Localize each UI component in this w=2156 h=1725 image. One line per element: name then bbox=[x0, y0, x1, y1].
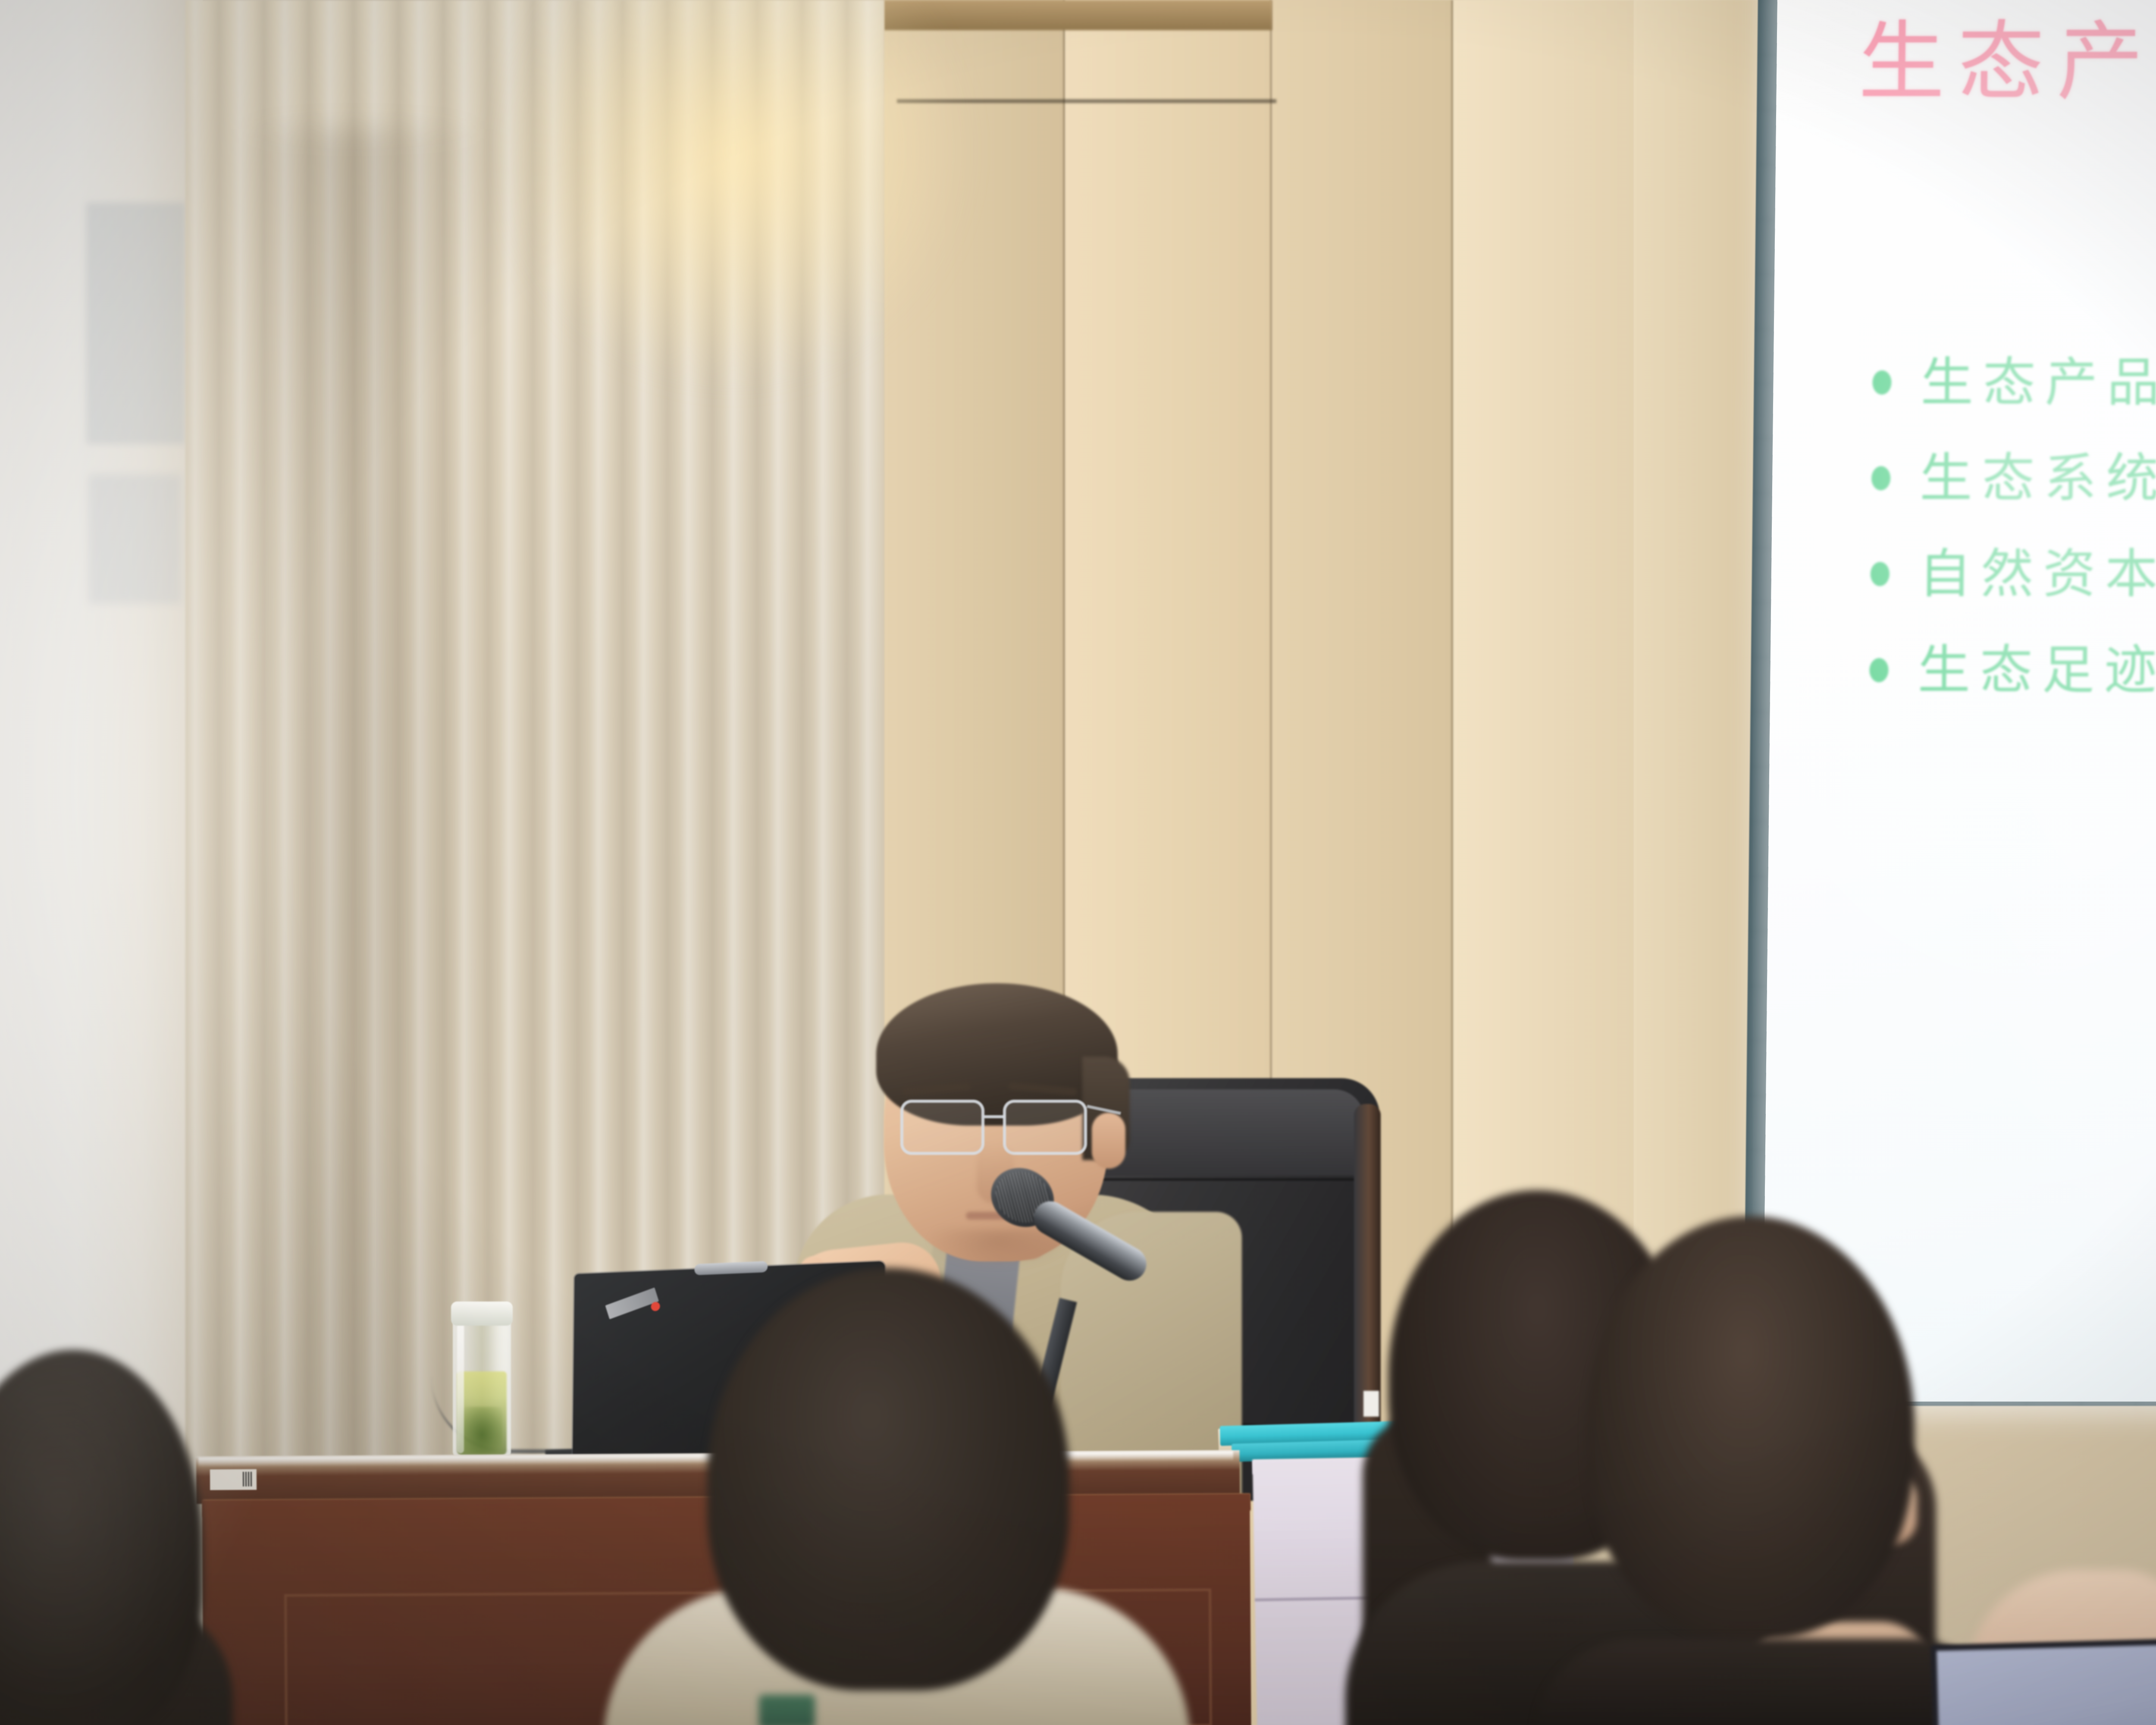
attendee-center-head bbox=[707, 1268, 1069, 1690]
bullet-label: 生态系统 bbox=[1919, 449, 2156, 507]
tea-leaves bbox=[461, 1407, 503, 1453]
list-item: 生态产品 bbox=[1872, 354, 2156, 411]
list-item: 自然资本 bbox=[1870, 545, 2156, 603]
glasses-lens-right bbox=[1003, 1100, 1087, 1155]
projection-screen-content: 生态产 生态产品 生态系统 自然资本 生态足迹 bbox=[1763, 0, 2156, 1402]
slide-bullet-list: 生态产品 生态系统 自然资本 生态足迹 bbox=[1869, 354, 2156, 737]
tumbler-cap[interactable] bbox=[451, 1302, 513, 1326]
bullet-label: 自然资本 bbox=[1918, 545, 2156, 603]
list-item: 生态足迹 bbox=[1869, 641, 2156, 699]
foreground-laptop-screen bbox=[1930, 1633, 2156, 1725]
bullet-label: 生态足迹 bbox=[1918, 641, 2156, 699]
glasses-lens-left bbox=[900, 1100, 984, 1155]
bullet-dot-icon bbox=[1871, 562, 1890, 586]
glasses-bridge bbox=[984, 1115, 1004, 1118]
list-item: 生态系统 bbox=[1871, 449, 2156, 507]
bullet-label: 生态产品 bbox=[1921, 354, 2156, 411]
bullet-dot-icon bbox=[1871, 466, 1891, 490]
glasses-temple bbox=[1087, 1105, 1121, 1115]
slide-title: 生态产 bbox=[1858, 17, 2156, 108]
attendee-center-badge bbox=[759, 1695, 815, 1725]
foreground-laptop[interactable] bbox=[1930, 1633, 2156, 1725]
bullet-dot-icon bbox=[1869, 658, 1889, 682]
curtain-shadow bbox=[241, 129, 483, 1509]
window-pane-upper bbox=[86, 203, 185, 444]
barcode-icon bbox=[243, 1472, 253, 1487]
bullet-dot-icon bbox=[1872, 370, 1892, 395]
chair-tag bbox=[1363, 1391, 1379, 1417]
tumbler-highlight bbox=[457, 1311, 464, 1453]
lecture-hall-photo: 生态产 生态产品 生态系统 自然资本 生态足迹 bbox=[0, 0, 2156, 1725]
asset-label-sticker bbox=[210, 1469, 257, 1490]
attendee-right-two-head bbox=[1587, 1216, 1915, 1639]
curtain-light-glow bbox=[496, 0, 970, 388]
window-pane-lower bbox=[88, 474, 181, 604]
